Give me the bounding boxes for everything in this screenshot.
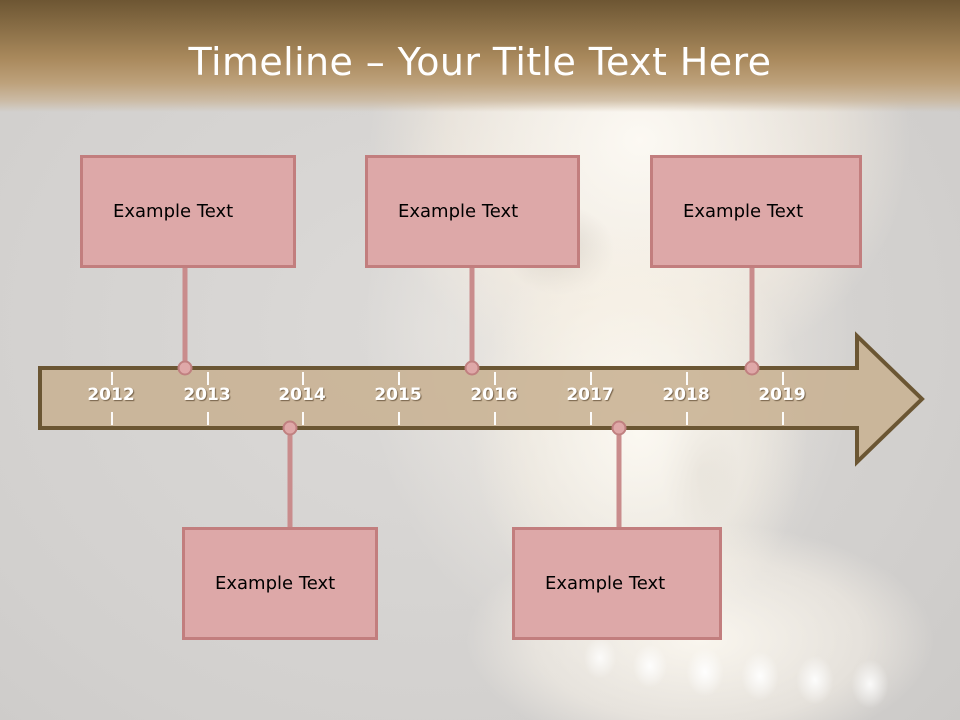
year-tick-2018-bot: [686, 412, 688, 425]
year-label-2016: 2016: [470, 385, 517, 405]
milestone-text-label: Example Text: [83, 201, 233, 222]
year-tick-2012-top: [111, 372, 113, 385]
year-label-2015: 2015: [374, 385, 421, 405]
connector-dot-m4: [283, 421, 298, 436]
year-label-2018: 2018: [662, 385, 709, 405]
milestone-text-label: Example Text: [515, 573, 665, 594]
year-tick-2016-bot: [494, 412, 496, 425]
milestone-text-box[interactable]: Example Text: [650, 155, 862, 268]
year-tick-2018-top: [686, 372, 688, 385]
year-tick-2013-top: [207, 372, 209, 385]
connector-line-m5: [617, 428, 622, 527]
milestone-text-box[interactable]: Example Text: [365, 155, 580, 268]
connector-dot-m3: [745, 361, 760, 376]
year-label-2014: 2014: [278, 385, 325, 405]
connector-line-m3: [750, 268, 755, 368]
year-tick-2019-top: [782, 372, 784, 385]
connector-line-m2: [470, 268, 475, 368]
year-tick-2013-bot: [207, 412, 209, 425]
connector-dot-m1: [178, 361, 193, 376]
year-tick-2017-bot: [590, 412, 592, 425]
milestone-text-box[interactable]: Example Text: [182, 527, 378, 640]
connector-dot-m2: [465, 361, 480, 376]
milestone-text-label: Example Text: [368, 201, 518, 222]
year-tick-2012-bot: [111, 412, 113, 425]
milestone-text-label: Example Text: [185, 573, 335, 594]
milestone-text-box[interactable]: Example Text: [512, 527, 722, 640]
year-tick-2015-bot: [398, 412, 400, 425]
connector-line-m4: [288, 428, 293, 527]
title-band: Timeline – Your Title Text Here: [0, 0, 960, 112]
year-tick-2019-bot: [782, 412, 784, 425]
year-label-2013: 2013: [183, 385, 230, 405]
year-tick-2014-top: [302, 372, 304, 385]
connector-dot-m5: [612, 421, 627, 436]
timeline-slide: Timeline – Your Title Text Here 20122013…: [0, 0, 960, 720]
year-tick-2016-top: [494, 372, 496, 385]
year-tick-2017-top: [590, 372, 592, 385]
year-tick-2014-bot: [302, 412, 304, 425]
milestone-text-box[interactable]: Example Text: [80, 155, 296, 268]
milestone-text-label: Example Text: [653, 201, 803, 222]
page-title: Timeline – Your Title Text Here: [0, 40, 960, 84]
year-label-2017: 2017: [566, 385, 613, 405]
year-tick-2015-top: [398, 372, 400, 385]
connector-line-m1: [183, 268, 188, 368]
year-label-2012: 2012: [87, 385, 134, 405]
year-label-2019: 2019: [758, 385, 805, 405]
